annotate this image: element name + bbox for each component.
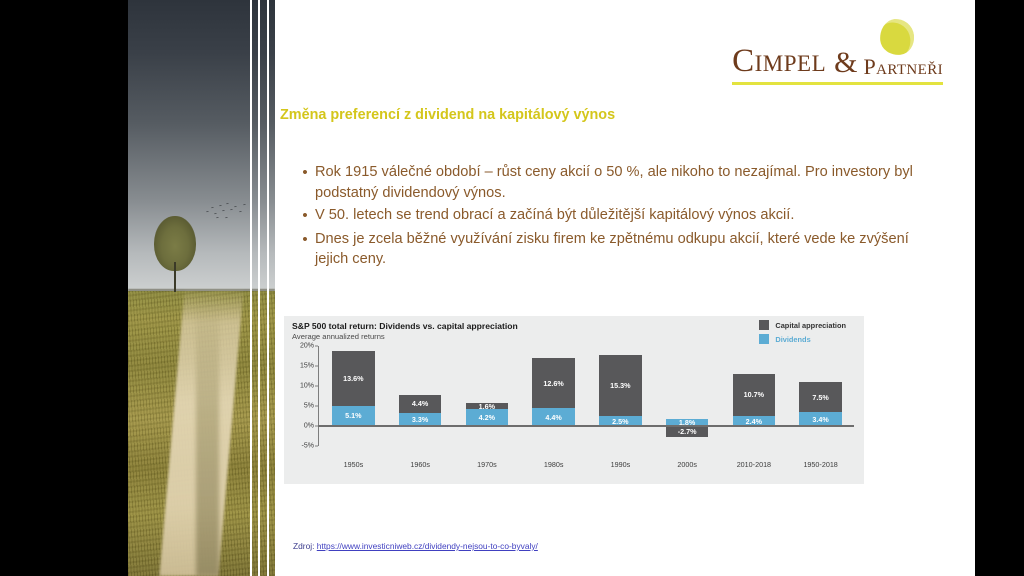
chart-y-tick-label: 5% xyxy=(304,403,314,410)
chart-y-axis: 20%15%10%5%0%-5% xyxy=(292,346,318,446)
chart-bar-group: 7.5%3.4% xyxy=(787,346,854,446)
source-line: Zdroj: https://www.investicniweb.cz/divi… xyxy=(293,541,538,551)
chart-bar-segment-dividends: 3.4% xyxy=(799,412,842,426)
chart-y-axis-line xyxy=(318,346,319,446)
decorative-photo-panel xyxy=(128,0,275,576)
logo-underline xyxy=(732,82,943,85)
bird-icon xyxy=(222,210,225,213)
logo-name-partners: Partneři xyxy=(863,56,943,78)
list-item: • Dnes je zcela běžné využívání zisku fi… xyxy=(295,229,915,270)
chart-bar-group: -2.7%1.8% xyxy=(654,346,721,446)
list-item-text: Dnes je zcela běžné využívání zisku fire… xyxy=(315,229,915,270)
bird-icon xyxy=(210,207,213,210)
legend-item-capital-appreciation: Capital appreciation xyxy=(759,320,846,330)
source-link[interactable]: https://www.investicniweb.cz/dividendy-n… xyxy=(317,541,538,551)
chart-x-tick-label: 1960s xyxy=(387,460,454,476)
source-label: Zdroj: xyxy=(293,541,314,551)
chart-bar-group: 13.6%5.1% xyxy=(320,346,387,446)
bird-icon xyxy=(230,208,233,211)
chart-bar-segment-dividends: 5.1% xyxy=(332,406,375,426)
chart-title: S&P 500 total return: Dividends vs. capi… xyxy=(292,321,518,331)
chart-x-tick-label: 2000s xyxy=(654,460,721,476)
chart-zero-line xyxy=(318,425,854,427)
bullet-marker-icon: • xyxy=(295,205,315,226)
chart-x-tick-label: 1950s xyxy=(320,460,387,476)
list-item: • V 50. letech se trend obrací a začíná … xyxy=(295,205,915,226)
chart-bar-segment-capital-appreciation: 12.6% xyxy=(532,358,575,408)
chart-x-tick-label: 1990s xyxy=(587,460,654,476)
chart-bar-group: 10.7%2.4% xyxy=(721,346,788,446)
chart-container: S&P 500 total return: Dividends vs. capi… xyxy=(284,316,864,484)
bird-icon xyxy=(225,217,228,220)
tree-icon xyxy=(878,17,916,56)
list-item: • Rok 1915 válečné období – růst ceny ak… xyxy=(295,162,915,203)
list-item-text: Rok 1915 válečné období – růst ceny akci… xyxy=(315,162,915,203)
chart-subtitle: Average annualized returns xyxy=(292,332,385,341)
company-logo: Cimpel & Partneři xyxy=(732,45,943,101)
birds-icon xyxy=(204,199,248,228)
bullet-list: • Rok 1915 válečné období – růst ceny ak… xyxy=(295,162,915,272)
photo-path-shadow xyxy=(196,300,220,576)
bird-icon xyxy=(226,203,229,206)
chart-y-tick-label: 0% xyxy=(304,423,314,430)
chart-y-tick-label: 10% xyxy=(300,383,314,390)
chart-bar-segment-capital-appreciation: 7.5% xyxy=(799,382,842,412)
slide-content: Cimpel & Partneři Změna preferencí z div… xyxy=(275,0,975,576)
legend-swatch-capital-appreciation xyxy=(759,320,769,330)
legend-swatch-dividends xyxy=(759,334,769,344)
list-item-text: V 50. letech se trend obrací a začíná bý… xyxy=(315,205,915,226)
chart-bar-segment-capital-appreciation: -2.7% xyxy=(666,426,709,437)
chart-x-tick-label: 2010-2018 xyxy=(721,460,788,476)
chart-plot-area: 20%15%10%5%0%-5% 13.6%5.1%4.4%3.3%1.6%4.… xyxy=(292,346,854,476)
chart-bar-group: 4.4%3.3% xyxy=(387,346,454,446)
slide-canvas: Cimpel & Partneři Změna preferencí z div… xyxy=(0,0,1024,576)
chart-bar-segment-capital-appreciation: 13.6% xyxy=(332,351,375,405)
chart-bar-segment-capital-appreciation: 4.4% xyxy=(399,395,442,413)
bird-icon xyxy=(234,206,237,209)
chart-bar-segment-dividends: 4.4% xyxy=(532,408,575,426)
chart-bar-segment-capital-appreciation: 15.3% xyxy=(599,355,642,416)
page-title: Změna preferencí z dividend na kapitálov… xyxy=(280,107,900,123)
chart-legend: Capital appreciation Dividends xyxy=(759,320,846,348)
chart-x-axis-labels: 1950s1960s1970s1980s1990s2000s2010-20181… xyxy=(320,460,854,476)
bird-icon xyxy=(239,211,242,214)
bullet-marker-icon: • xyxy=(295,229,315,270)
legend-label-capital-appreciation: Capital appreciation xyxy=(775,321,846,330)
legend-label-dividends: Dividends xyxy=(775,335,810,344)
letterbox-right xyxy=(975,0,1024,576)
bird-icon xyxy=(206,211,209,214)
chart-bar-segment-dividends: 4.2% xyxy=(466,409,509,426)
logo-ampersand: & xyxy=(834,48,857,78)
bullet-marker-icon: • xyxy=(295,162,315,203)
chart-y-tick-label: -5% xyxy=(302,443,314,450)
chart-x-tick-label: 1980s xyxy=(520,460,587,476)
chart-x-tick-label: 1970s xyxy=(454,460,521,476)
bird-icon xyxy=(214,212,217,215)
chart-bar-segment-dividends: 3.3% xyxy=(399,413,442,426)
bird-icon xyxy=(219,205,222,208)
chart-y-tick-label: 15% xyxy=(300,363,314,370)
photo-edge-stripes xyxy=(243,0,275,576)
chart-bars: 13.6%5.1%4.4%3.3%1.6%4.2%12.6%4.4%15.3%2… xyxy=(320,346,854,446)
logo-wordmark: Cimpel & Partneři xyxy=(732,45,943,78)
chart-bar-segment-capital-appreciation: 10.7% xyxy=(733,374,776,417)
chart-bar-group: 12.6%4.4% xyxy=(520,346,587,446)
bird-icon xyxy=(216,216,219,219)
logo-name-main: Cimpel xyxy=(732,45,826,78)
letterbox-left xyxy=(0,0,128,576)
chart-bar-group: 1.6%4.2% xyxy=(454,346,521,446)
chart-y-tick-label: 20% xyxy=(300,343,314,350)
chart-x-tick-label: 1950-2018 xyxy=(787,460,854,476)
legend-item-dividends: Dividends xyxy=(759,334,846,344)
chart-bar-group: 15.3%2.5% xyxy=(587,346,654,446)
tree-trunk-icon xyxy=(174,262,176,292)
